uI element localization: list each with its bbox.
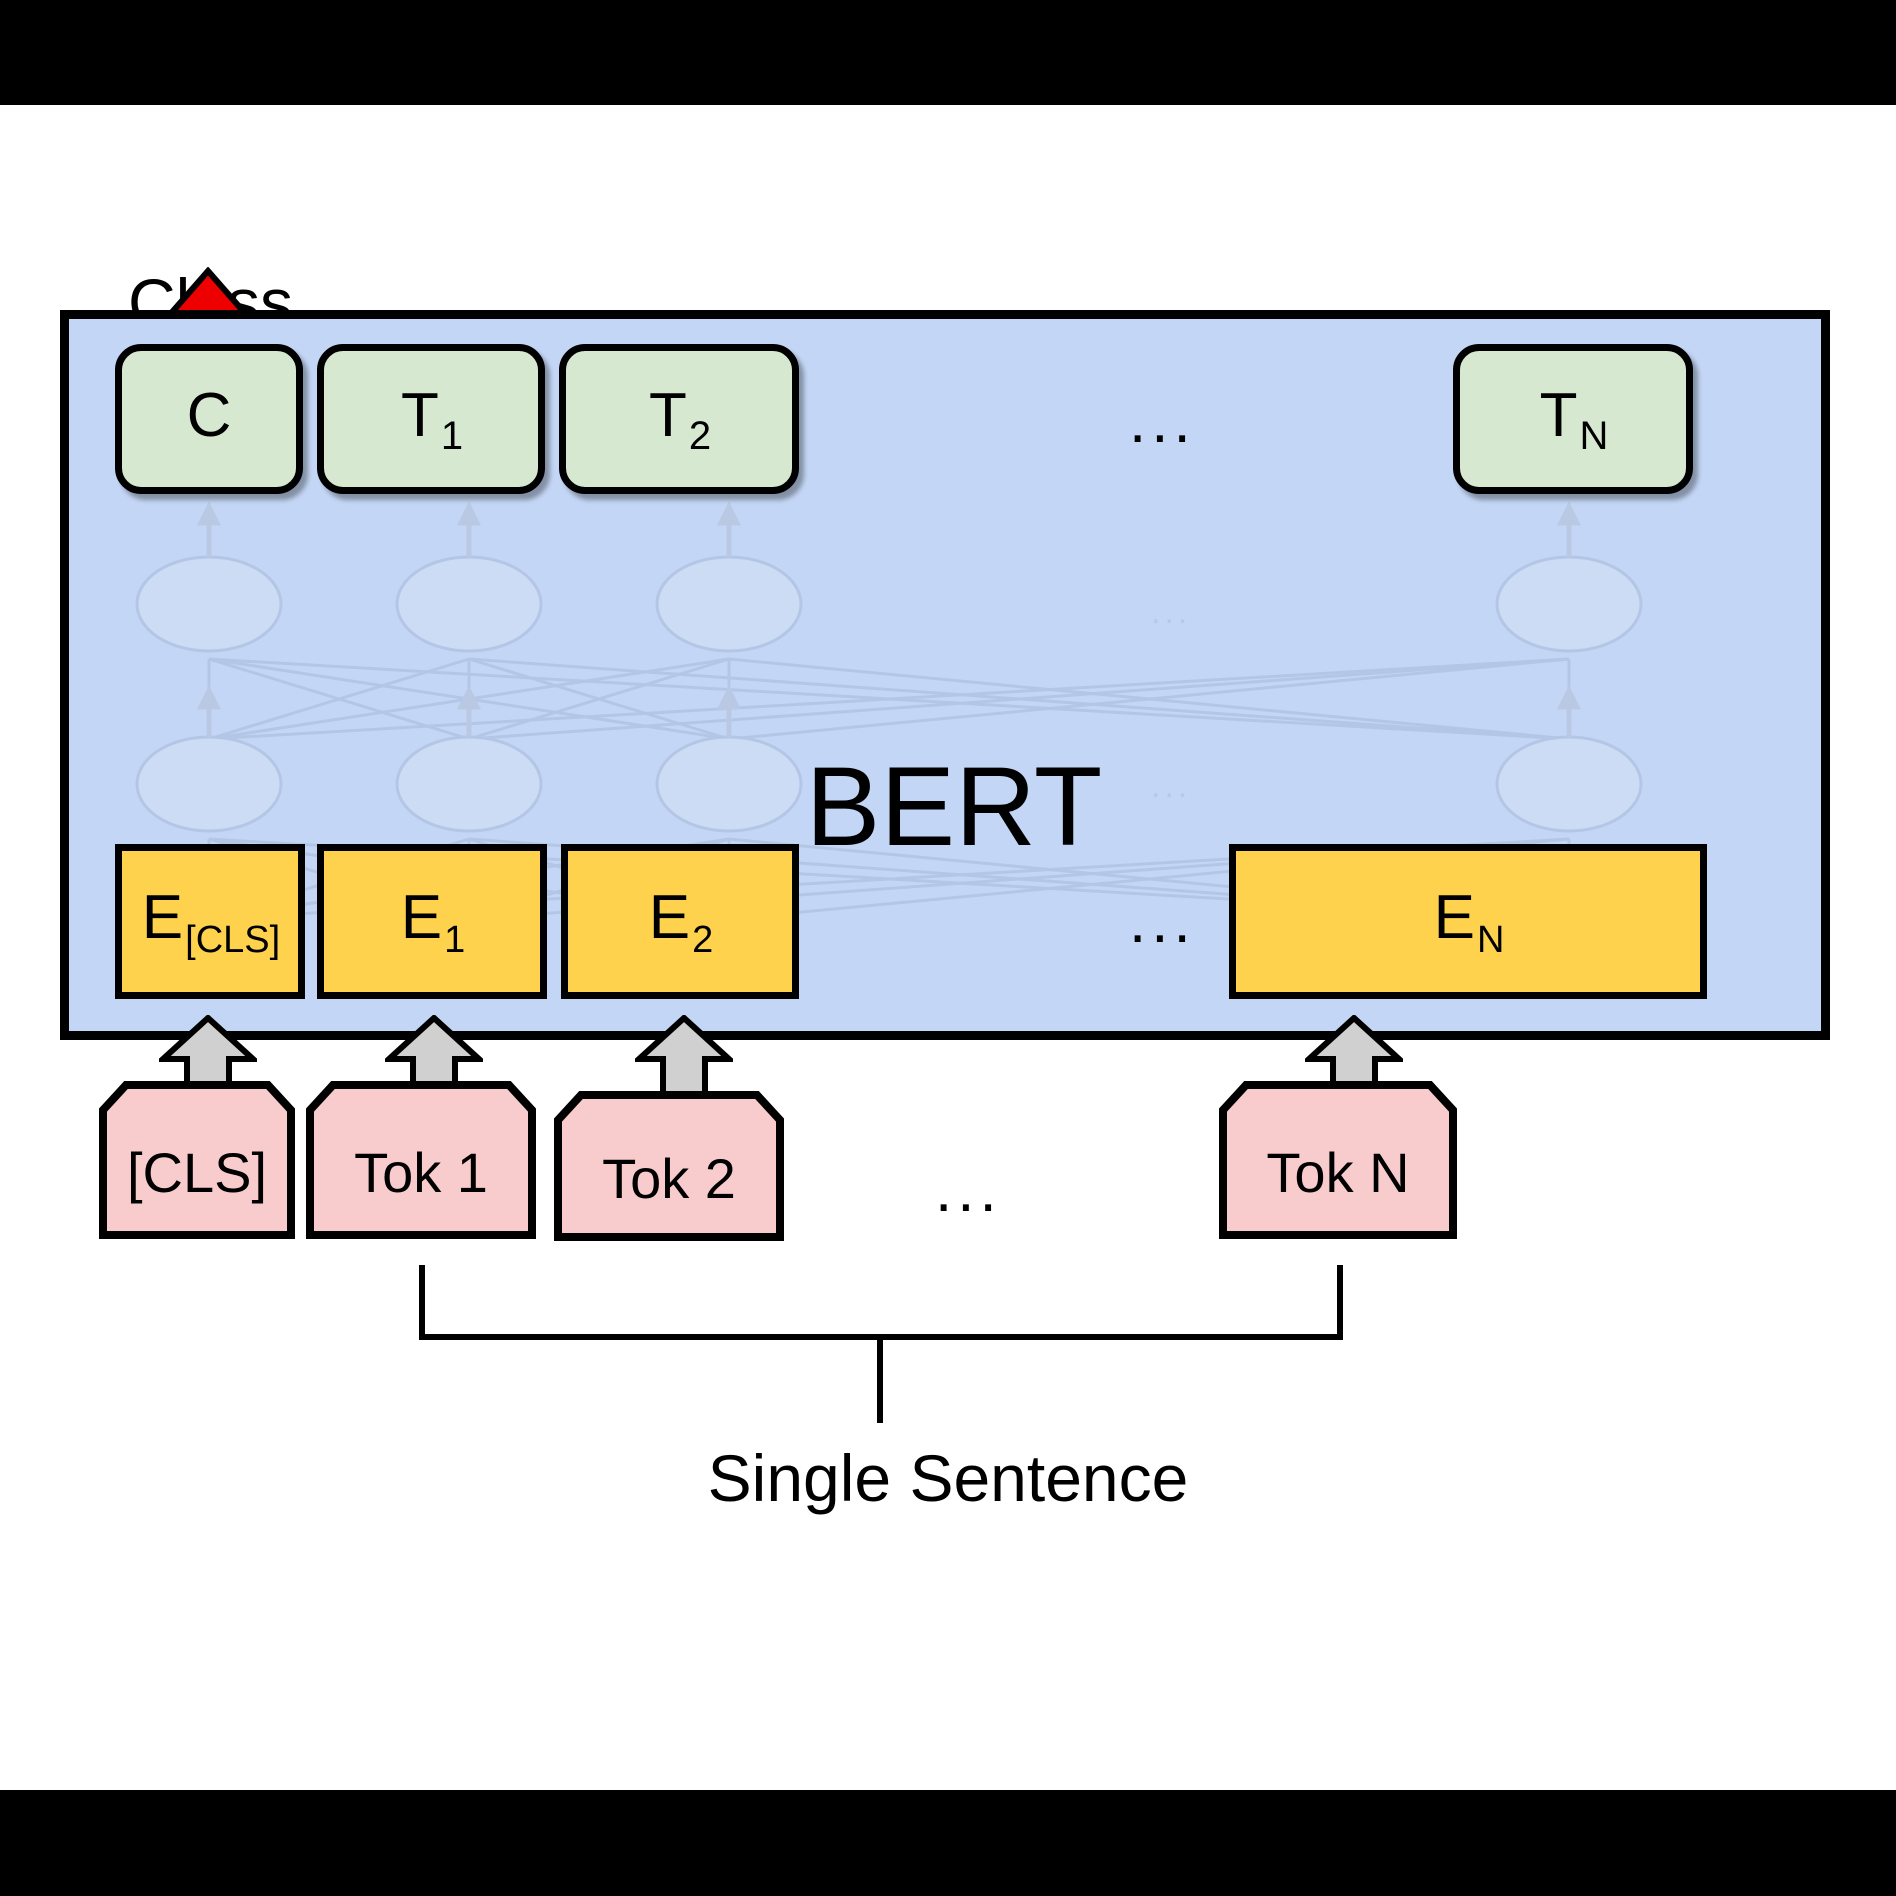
output-token-box-t2[interactable]: T2: [559, 344, 799, 494]
diagram-stage: Class Label: [0, 105, 1896, 1790]
input-group-bracket: [380, 1265, 1440, 1445]
output-token-label-t1: T1: [401, 385, 461, 454]
embedding-ellipsis: ...: [1129, 891, 1196, 953]
input-group-label: Single Sentence: [0, 1445, 1896, 1511]
input-token-label-tok1: Tok 1: [305, 1080, 537, 1240]
input-token-box-tokn[interactable]: Tok N: [1218, 1080, 1458, 1240]
input-token-label-tokn: Tok N: [1218, 1080, 1458, 1240]
output-token-box-t1[interactable]: T1: [317, 344, 545, 494]
embedding-box-e2[interactable]: E2: [561, 844, 799, 999]
embedding-box-en[interactable]: EN: [1229, 844, 1707, 999]
input-token-label-tok2: Tok 2: [553, 1090, 785, 1242]
bert-encoder-box: BERT C T1 T2 TN ..: [60, 310, 1830, 1040]
letterbox-top-bar: [0, 0, 1896, 105]
output-token-label-c: C: [187, 385, 232, 454]
diagram-canvas: Class Label: [0, 0, 1896, 1896]
input-token-box-tok1[interactable]: Tok 1: [305, 1080, 537, 1240]
input-token-ellipsis: ...: [935, 1160, 1002, 1222]
embedding-box-cls[interactable]: E[CLS]: [115, 844, 305, 999]
output-token-box-c[interactable]: C: [115, 344, 303, 494]
output-token-ellipsis: ...: [1129, 391, 1196, 453]
output-token-label-tn: TN: [1540, 385, 1607, 454]
input-token-label-cls: [CLS]: [98, 1080, 296, 1240]
embedding-box-e1[interactable]: E1: [317, 844, 547, 999]
input-token-box-tok2[interactable]: Tok 2: [553, 1090, 785, 1242]
output-token-label-t2: T2: [649, 385, 709, 454]
network-ellipsis-row2: ...: [1151, 769, 1191, 803]
embedding-label-cls: E[CLS]: [142, 887, 278, 957]
output-token-box-tn[interactable]: TN: [1453, 344, 1693, 494]
network-ellipsis-row1: ...: [1151, 595, 1191, 629]
letterbox-bottom-bar: [0, 1790, 1896, 1896]
input-token-box-cls[interactable]: [CLS]: [98, 1080, 296, 1240]
embedding-label-e1: E1: [401, 887, 464, 957]
embedding-label-en: EN: [1434, 887, 1503, 957]
embedding-label-e2: E2: [649, 887, 712, 957]
